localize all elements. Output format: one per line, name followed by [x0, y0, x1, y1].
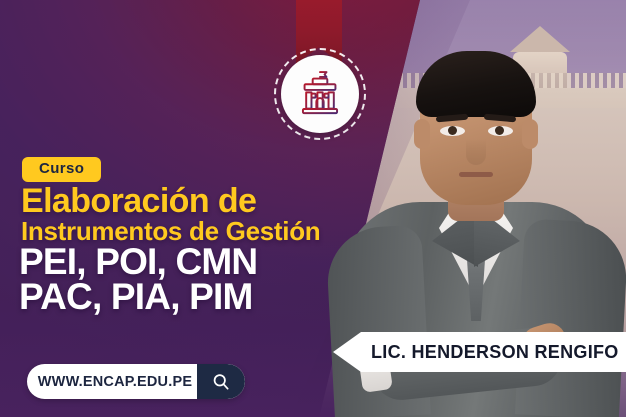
pupil-left	[448, 126, 457, 135]
ear-left	[414, 119, 430, 149]
ear-right	[522, 119, 538, 149]
instructor-name-banner: LIC. HENDERSON RENGIFO	[333, 332, 626, 372]
website-url-text: WWW.ENCAP.EDU.PE	[27, 364, 197, 399]
instructor-name-text: LIC. HENDERSON RENGIFO	[333, 342, 619, 363]
search-button[interactable]	[197, 364, 245, 399]
pupil-right	[495, 126, 504, 135]
course-label-badge: Curso	[22, 157, 101, 182]
title-line-3: PEI, POI, CMN	[19, 243, 257, 280]
mouth	[459, 172, 493, 177]
title-line-4: PAC, PIA, PIM	[19, 278, 253, 315]
search-icon	[211, 372, 231, 392]
nose	[466, 139, 486, 165]
hair	[416, 51, 536, 117]
course-promo-banner: Curso Elaboración de Instrumentos de Ges…	[0, 0, 626, 417]
suit-shoulder-right	[515, 218, 626, 417]
website-url-pill[interactable]: WWW.ENCAP.EDU.PE	[27, 364, 245, 399]
title-line-1: Elaboración de	[21, 184, 256, 218]
